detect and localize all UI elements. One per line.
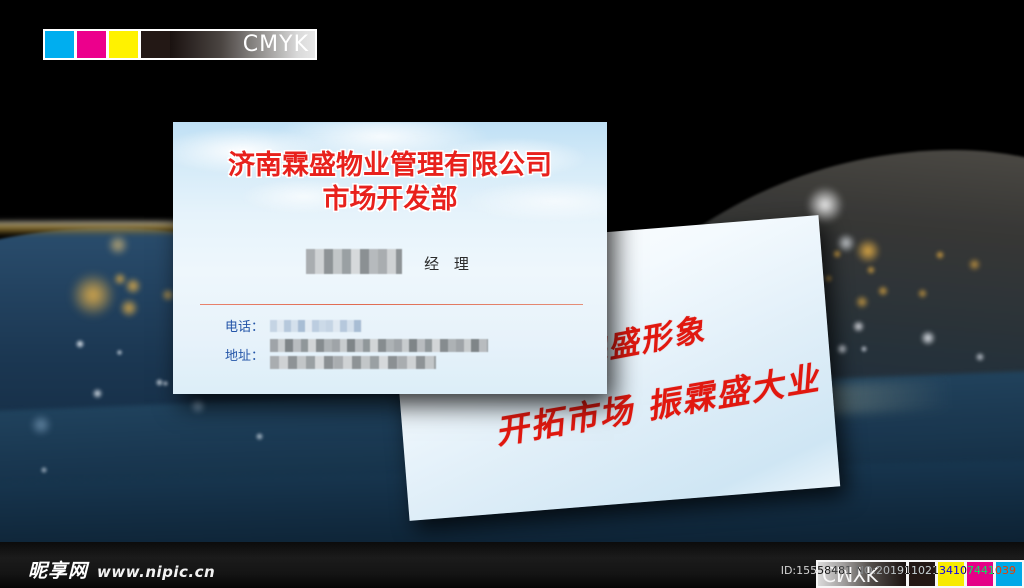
redacted-phone-value: [270, 320, 362, 332]
name-role-row: 经 理: [173, 249, 607, 274]
site-watermark: 昵享网 www.nipic.cn: [28, 556, 215, 583]
watermark-logo-text: 昵享网: [28, 556, 88, 583]
job-role: 经 理: [424, 253, 474, 274]
cmyk-swatch-black: [141, 31, 170, 58]
redacted-name: [306, 249, 402, 274]
phone-label: 电话：: [225, 316, 264, 335]
image-id-text: ID:15558481 NO:20191102134107441039: [781, 564, 1016, 577]
contact-row-phone: 电话：: [225, 316, 587, 335]
divider-rule: [200, 304, 583, 305]
contact-row-address: 地址：: [225, 339, 587, 369]
company-title-line-2: 市场开发部: [173, 183, 607, 217]
company-title: 济南霖盛物业管理有限公司 市场开发部: [173, 149, 607, 217]
business-card-front: 济南霖盛物业管理有限公司 市场开发部 经 理 电话： 地址：: [173, 122, 607, 394]
cmyk-swatch-yellow: [109, 31, 138, 58]
contact-block: 电话： 地址：: [225, 316, 587, 373]
address-label: 地址：: [225, 345, 264, 364]
screenshot-canvas: CMYK 霖盛形象 开拓市场 振霖盛大业 济南霖盛物业管理有限公司 市场开发部 …: [0, 0, 1024, 588]
watermark-url: www.nipic.cn: [97, 563, 215, 581]
redacted-address-line-1: [270, 339, 488, 352]
cmyk-header-bar: CMYK: [43, 29, 317, 60]
footer-right-group: CMYK ID:15558481 NO:20191102134107441039: [774, 548, 1024, 588]
cmyk-label: CMYK: [243, 34, 309, 56]
cmyk-swatch-cyan: [45, 31, 74, 58]
redacted-address-block: [270, 339, 488, 369]
company-title-line-1: 济南霖盛物业管理有限公司: [228, 150, 552, 181]
cmyk-gradient-strip: CMYK: [170, 31, 315, 58]
cmyk-swatch-magenta: [77, 31, 106, 58]
redacted-address-line-2: [270, 356, 436, 369]
cmyk-swatch-group: [45, 31, 170, 58]
